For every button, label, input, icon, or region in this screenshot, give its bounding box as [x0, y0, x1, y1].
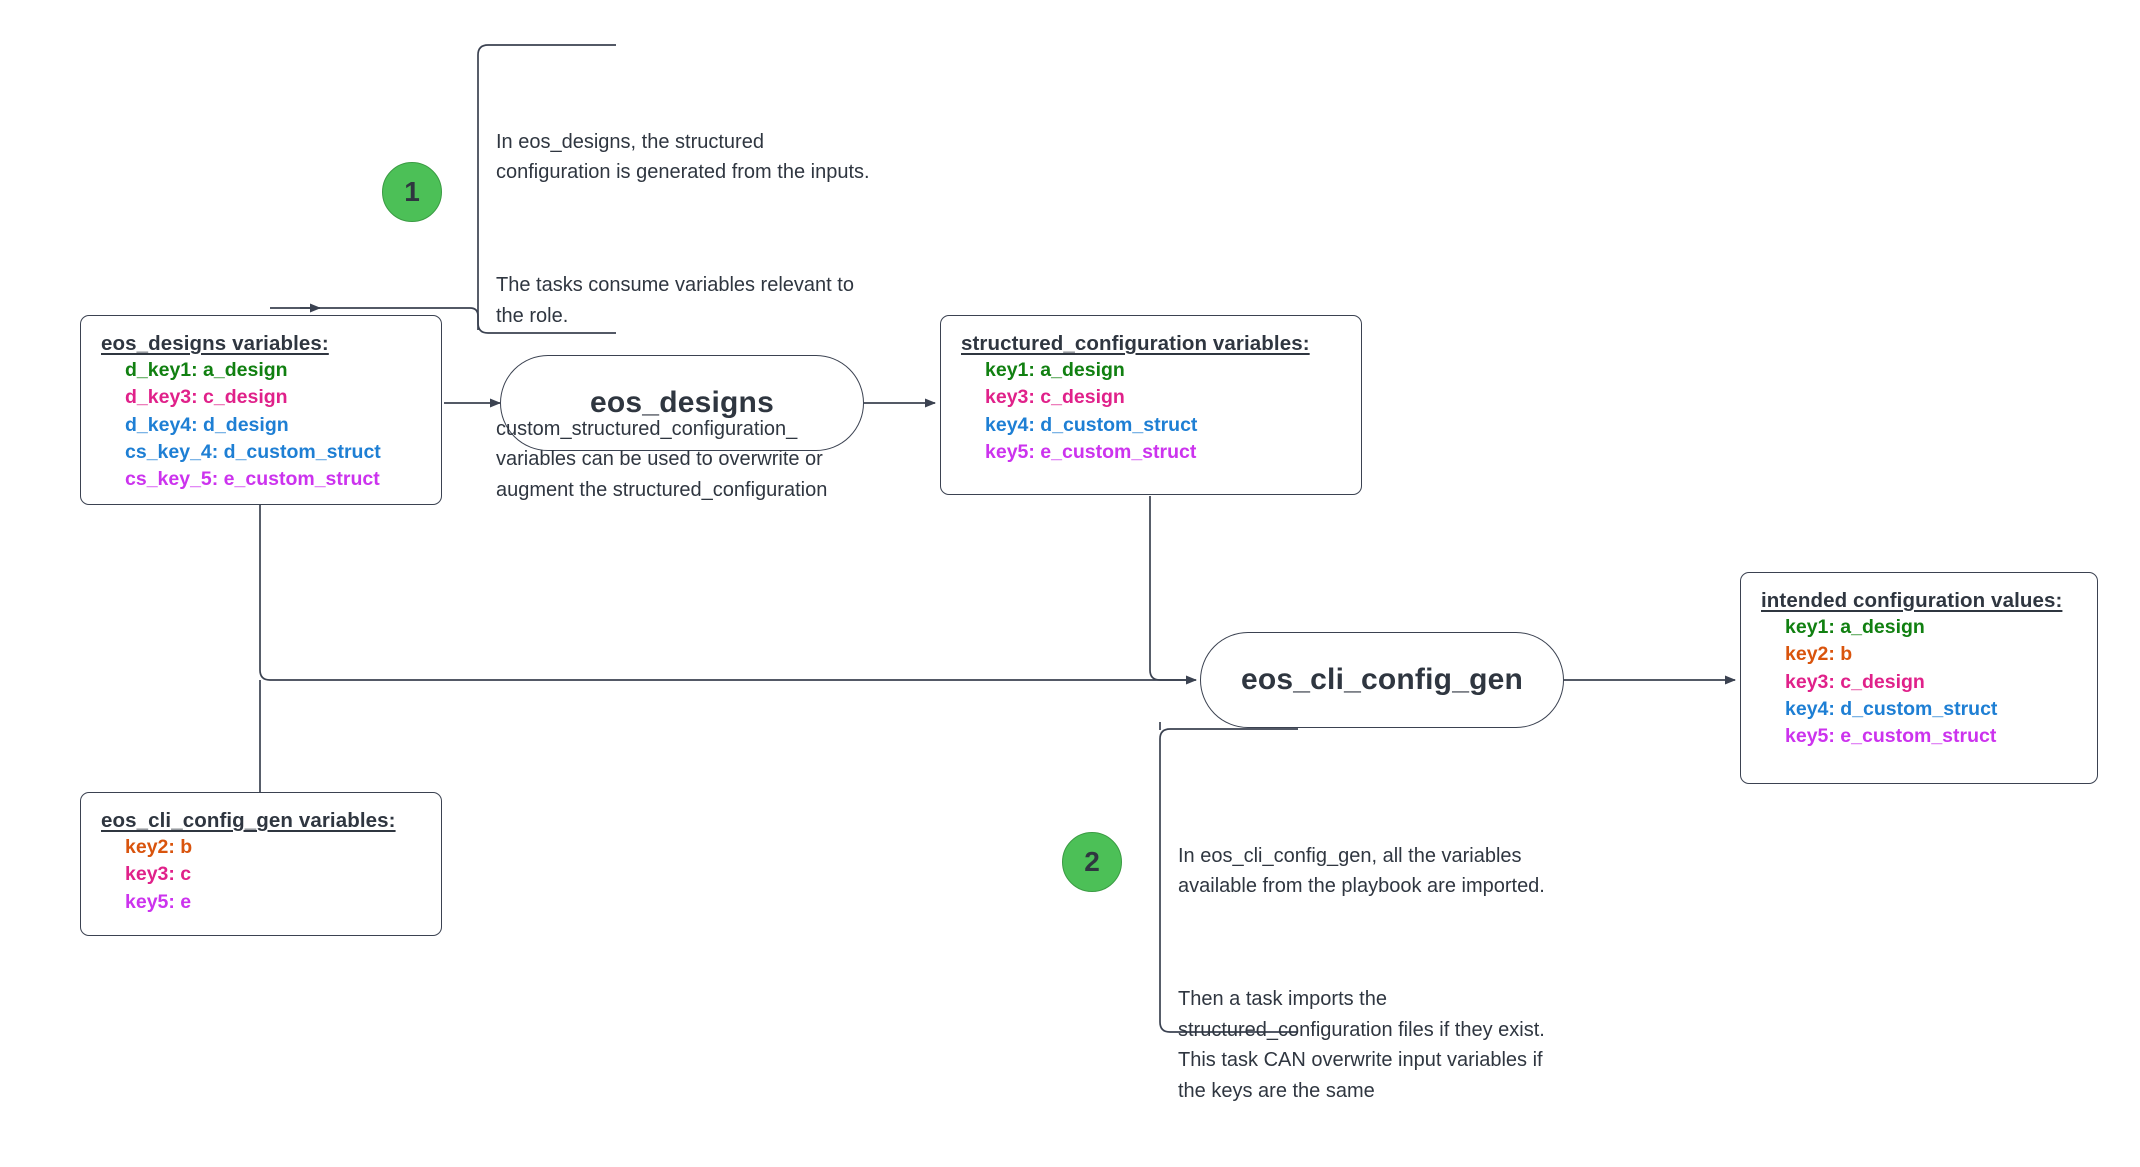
role-label: eos_cli_config_gen — [1241, 663, 1523, 697]
list-item: d_key1: a_design — [125, 357, 423, 384]
note-body: In eos_designs, the structured configura… — [496, 66, 962, 566]
list-item: key2: b — [125, 834, 423, 861]
role-node-eos-cli-config-gen[interactable]: eos_cli_config_gen — [1200, 632, 1564, 728]
box-title: eos_designs variables: — [101, 330, 423, 357]
box-intended-configuration-values[interactable]: intended configuration values: key1: a_d… — [1740, 572, 2098, 784]
step-badge-label: 1 — [404, 176, 420, 208]
list-item: key3: c_design — [1785, 669, 2079, 696]
step-badge-2: 2 — [1062, 832, 1122, 892]
list-item: key1: a_design — [1785, 614, 2079, 641]
list-item: key5: e_custom_struct — [1785, 723, 2079, 750]
box-title: intended configuration values: — [1761, 587, 2079, 614]
note-paragraph: Then a task imports the structured_confi… — [1178, 984, 1644, 1106]
box-item-list: key1: a_design key2: b key3: c_design ke… — [1761, 614, 2079, 750]
list-item: key2: b — [1785, 641, 2079, 668]
list-item: cs_key_4: d_custom_struct — [125, 439, 423, 466]
box-item-list: key2: b key3: c key5: e — [101, 834, 423, 916]
step-badge-1: 1 — [382, 162, 442, 222]
note-paragraph: custom_structured_configuration_ variabl… — [496, 414, 962, 505]
list-item: key5: e_custom_struct — [985, 439, 1343, 466]
list-item: key4: d_custom_struct — [1785, 696, 2079, 723]
wire-structured-config-down — [1150, 496, 1160, 680]
list-item: key3: c — [125, 861, 423, 888]
note-paragraph: In eos_designs, the structured configura… — [496, 127, 962, 188]
note-2: In eos_cli_config_gen, all the variables… — [1148, 728, 1648, 1033]
diagram-canvas: eos_designs variables: d_key1: a_design … — [0, 0, 2140, 1070]
list-item: d_key3: c_design — [125, 384, 423, 411]
list-item: cs_key_5: e_custom_struct — [125, 466, 423, 493]
box-title: eos_cli_config_gen variables: — [101, 807, 423, 834]
box-eos-cli-config-gen-variables[interactable]: eos_cli_config_gen variables: key2: b ke… — [80, 792, 442, 936]
list-item: key4: d_custom_struct — [985, 412, 1343, 439]
note-paragraph: In eos_cli_config_gen, all the variables… — [1178, 841, 1644, 902]
box-eos-designs-variables[interactable]: eos_designs variables: d_key1: a_design … — [80, 315, 442, 505]
list-item: key5: e — [125, 889, 423, 916]
list-item: d_key4: d_design — [125, 412, 423, 439]
note-paragraph: The tasks consume variables relevant to … — [496, 270, 962, 331]
box-item-list: d_key1: a_design d_key3: c_design d_key4… — [101, 357, 423, 493]
list-item: key1: a_design — [985, 357, 1343, 384]
note-1: In eos_designs, the structured configura… — [466, 44, 966, 334]
step-badge-label: 2 — [1084, 846, 1100, 878]
note-body: In eos_cli_config_gen, all the variables… — [1178, 780, 1644, 1167]
box-item-list: key1: a_design key3: c_design key4: d_cu… — [961, 357, 1343, 466]
box-title: structured_configuration variables: — [961, 330, 1343, 357]
box-structured-configuration-variables[interactable]: structured_configuration variables: key1… — [940, 315, 1362, 495]
list-item: key3: c_design — [985, 384, 1343, 411]
